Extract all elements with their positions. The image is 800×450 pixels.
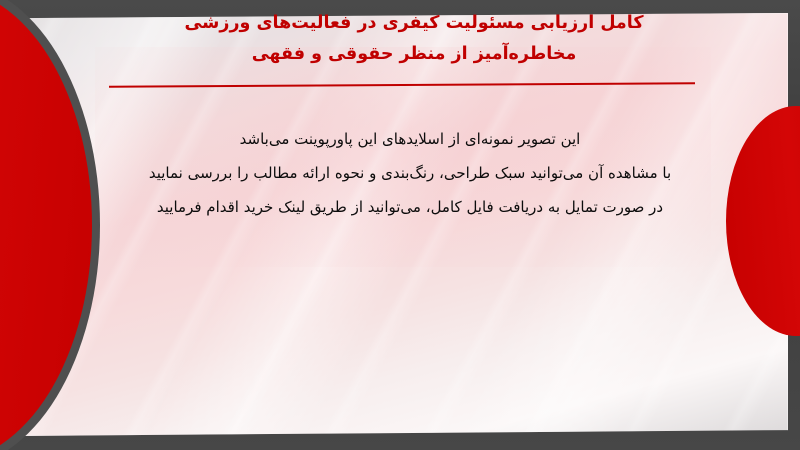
panel-diagonal-streaks [18, 13, 788, 436]
body-line-2: با مشاهده آن می‌توانید سبک طراحی، رنگ‌بن… [80, 156, 740, 190]
presentation-slide: کامل ارزیابی مسئولیت کیفری در فعالیت‌های… [0, 0, 800, 450]
title-line-2: مخاطره‌آمیز از منظر حقوقی و فقهی [114, 39, 714, 70]
body-line-1: این تصویر نمونه‌ای از اسلایدهای این پاور… [80, 122, 740, 156]
slide-content-panel [18, 13, 788, 436]
slide-body-text: این تصویر نمونه‌ای از اسلایدهای این پاور… [80, 122, 740, 224]
body-line-3: در صورت تمایل به دریافت فایل کامل، می‌تو… [80, 190, 740, 224]
title-line-1: کامل ارزیابی مسئولیت کیفری در فعالیت‌های… [114, 8, 714, 39]
slide-title: کامل ارزیابی مسئولیت کیفری در فعالیت‌های… [114, 8, 714, 70]
